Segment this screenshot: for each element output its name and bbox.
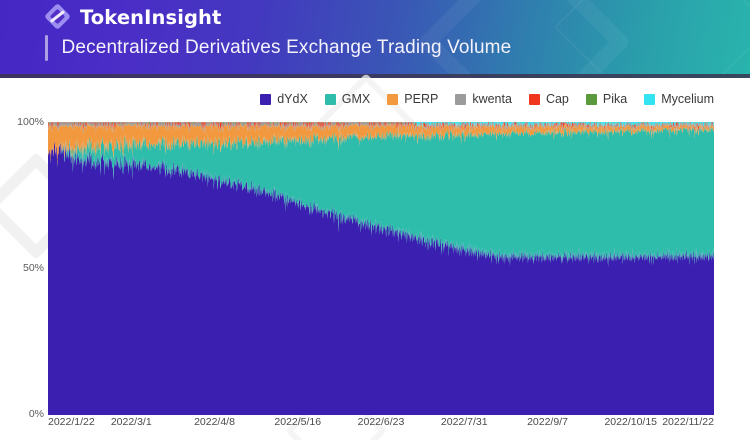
- brand-name: TokenInsight: [80, 6, 221, 29]
- x-tick-label: 2022/4/8: [194, 416, 235, 428]
- legend-label: Mycelium: [661, 92, 714, 106]
- x-tick-label: 2022/11/22: [662, 416, 714, 428]
- x-tick-label: 2022/1/22: [48, 416, 95, 428]
- legend-swatch-pika: [586, 94, 597, 105]
- x-tick-label: 2022/3/1: [111, 416, 152, 428]
- legend-label: GMX: [342, 92, 370, 106]
- screenshot-root: TokenInsight Decentralized Derivatives E…: [0, 0, 750, 440]
- legend-item-gmx[interactable]: GMX: [325, 92, 370, 106]
- legend-label: Pika: [603, 92, 627, 106]
- legend-swatch-kwenta: [455, 94, 466, 105]
- chart-title-row: Decentralized Derivatives Exchange Tradi…: [45, 31, 511, 65]
- chart-container: 100% 50% 0% 2022/1/222022/3/12022/4/8202…: [0, 109, 750, 440]
- brand-logo[interactable]: TokenInsight: [45, 2, 221, 32]
- x-tick-label: 2022/10/15: [604, 416, 657, 428]
- page-header: TokenInsight Decentralized Derivatives E…: [0, 0, 750, 78]
- chart-legend: dYdXGMXPERPkwentaCapPikaMycelium: [0, 89, 750, 109]
- legend-swatch-cap: [529, 94, 540, 105]
- stacked-area-svg: [48, 122, 714, 415]
- page-title: Decentralized Derivatives Exchange Tradi…: [62, 37, 512, 59]
- legend-swatch-gmx: [325, 94, 336, 105]
- x-tick-label: 2022/5/16: [274, 416, 321, 428]
- legend-swatch-mycelium: [644, 94, 655, 105]
- tokeninsight-diamond-logo-icon: [45, 4, 71, 30]
- legend-item-perp[interactable]: PERP: [387, 92, 438, 106]
- x-tick-label: 2022/9/7: [527, 416, 568, 428]
- legend-label: Cap: [546, 92, 569, 106]
- plot-area[interactable]: [48, 122, 714, 415]
- y-tick-50: 50%: [23, 262, 44, 274]
- legend-item-cap[interactable]: Cap: [529, 92, 569, 106]
- legend-label: PERP: [404, 92, 438, 106]
- x-axis: 2022/1/222022/3/12022/4/82022/5/162022/6…: [0, 415, 750, 439]
- legend-item-kwenta[interactable]: kwenta: [455, 92, 512, 106]
- legend-item-dydx[interactable]: dYdX: [260, 92, 308, 106]
- x-tick-label: 2022/6/23: [358, 416, 405, 428]
- legend-label: dYdX: [277, 92, 308, 106]
- legend-item-pika[interactable]: Pika: [586, 92, 627, 106]
- legend-swatch-perp: [387, 94, 398, 105]
- legend-swatch-dydx: [260, 94, 271, 105]
- legend-label: kwenta: [472, 92, 512, 106]
- header-bottom-rule: [0, 74, 750, 78]
- x-tick-label: 2022/7/31: [441, 416, 488, 428]
- y-tick-100: 100%: [17, 116, 44, 128]
- title-accent-bar: [45, 35, 48, 61]
- legend-item-mycelium[interactable]: Mycelium: [644, 92, 714, 106]
